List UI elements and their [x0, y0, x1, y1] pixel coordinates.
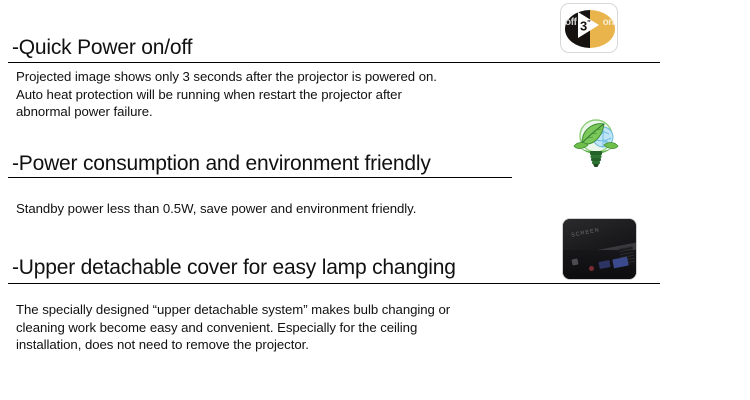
heading-rule-3 — [8, 283, 660, 284]
section-paragraph-upper-detachable-cover: The specially designed “upper detachable… — [16, 301, 450, 354]
paragraph-line: Standby power less than 0.5W, save power… — [16, 200, 416, 218]
eco-bulb-svg — [572, 116, 620, 170]
section-heading-quick-power: -Quick Power on/off — [12, 36, 192, 60]
paragraph-line: abnormal power failure. — [16, 103, 437, 121]
section-heading-power-consumption: -Power consumption and environment frien… — [12, 152, 431, 176]
seconds-value: 3″ — [580, 17, 591, 32]
projector-photo: SCREEN — [563, 219, 636, 279]
paragraph-line: The specially designed “upper detachable… — [16, 301, 450, 319]
paragraph-line: Projected image shows only 3 seconds aft… — [16, 68, 437, 86]
off-label: off — [565, 17, 577, 28]
paragraph-line: cleaning work become easy and convenient… — [16, 319, 450, 337]
heading-rule-2 — [8, 177, 512, 178]
section-paragraph-power-consumption: Standby power less than 0.5W, save power… — [16, 200, 416, 218]
paragraph-line: Auto heat protection will be running whe… — [16, 86, 437, 104]
projector-small-port — [571, 258, 578, 265]
heading-rule-1 — [8, 62, 660, 63]
section-paragraph-quick-power: Projected image shows only 3 seconds aft… — [16, 68, 437, 121]
section-heading-upper-detachable-cover: -Upper detachable cover for easy lamp ch… — [12, 256, 456, 280]
projector-rca-port — [589, 266, 594, 271]
on-label: on — [603, 17, 614, 28]
seconds-unit: ″ — [587, 20, 590, 27]
document-page: -Quick Power on/off Projected image show… — [0, 0, 750, 400]
paragraph-line: installation, does not need to remove th… — [16, 336, 450, 354]
quick-power-on-off-icon: off on 3″ — [560, 3, 618, 53]
eco-bulb-icon — [572, 116, 620, 170]
